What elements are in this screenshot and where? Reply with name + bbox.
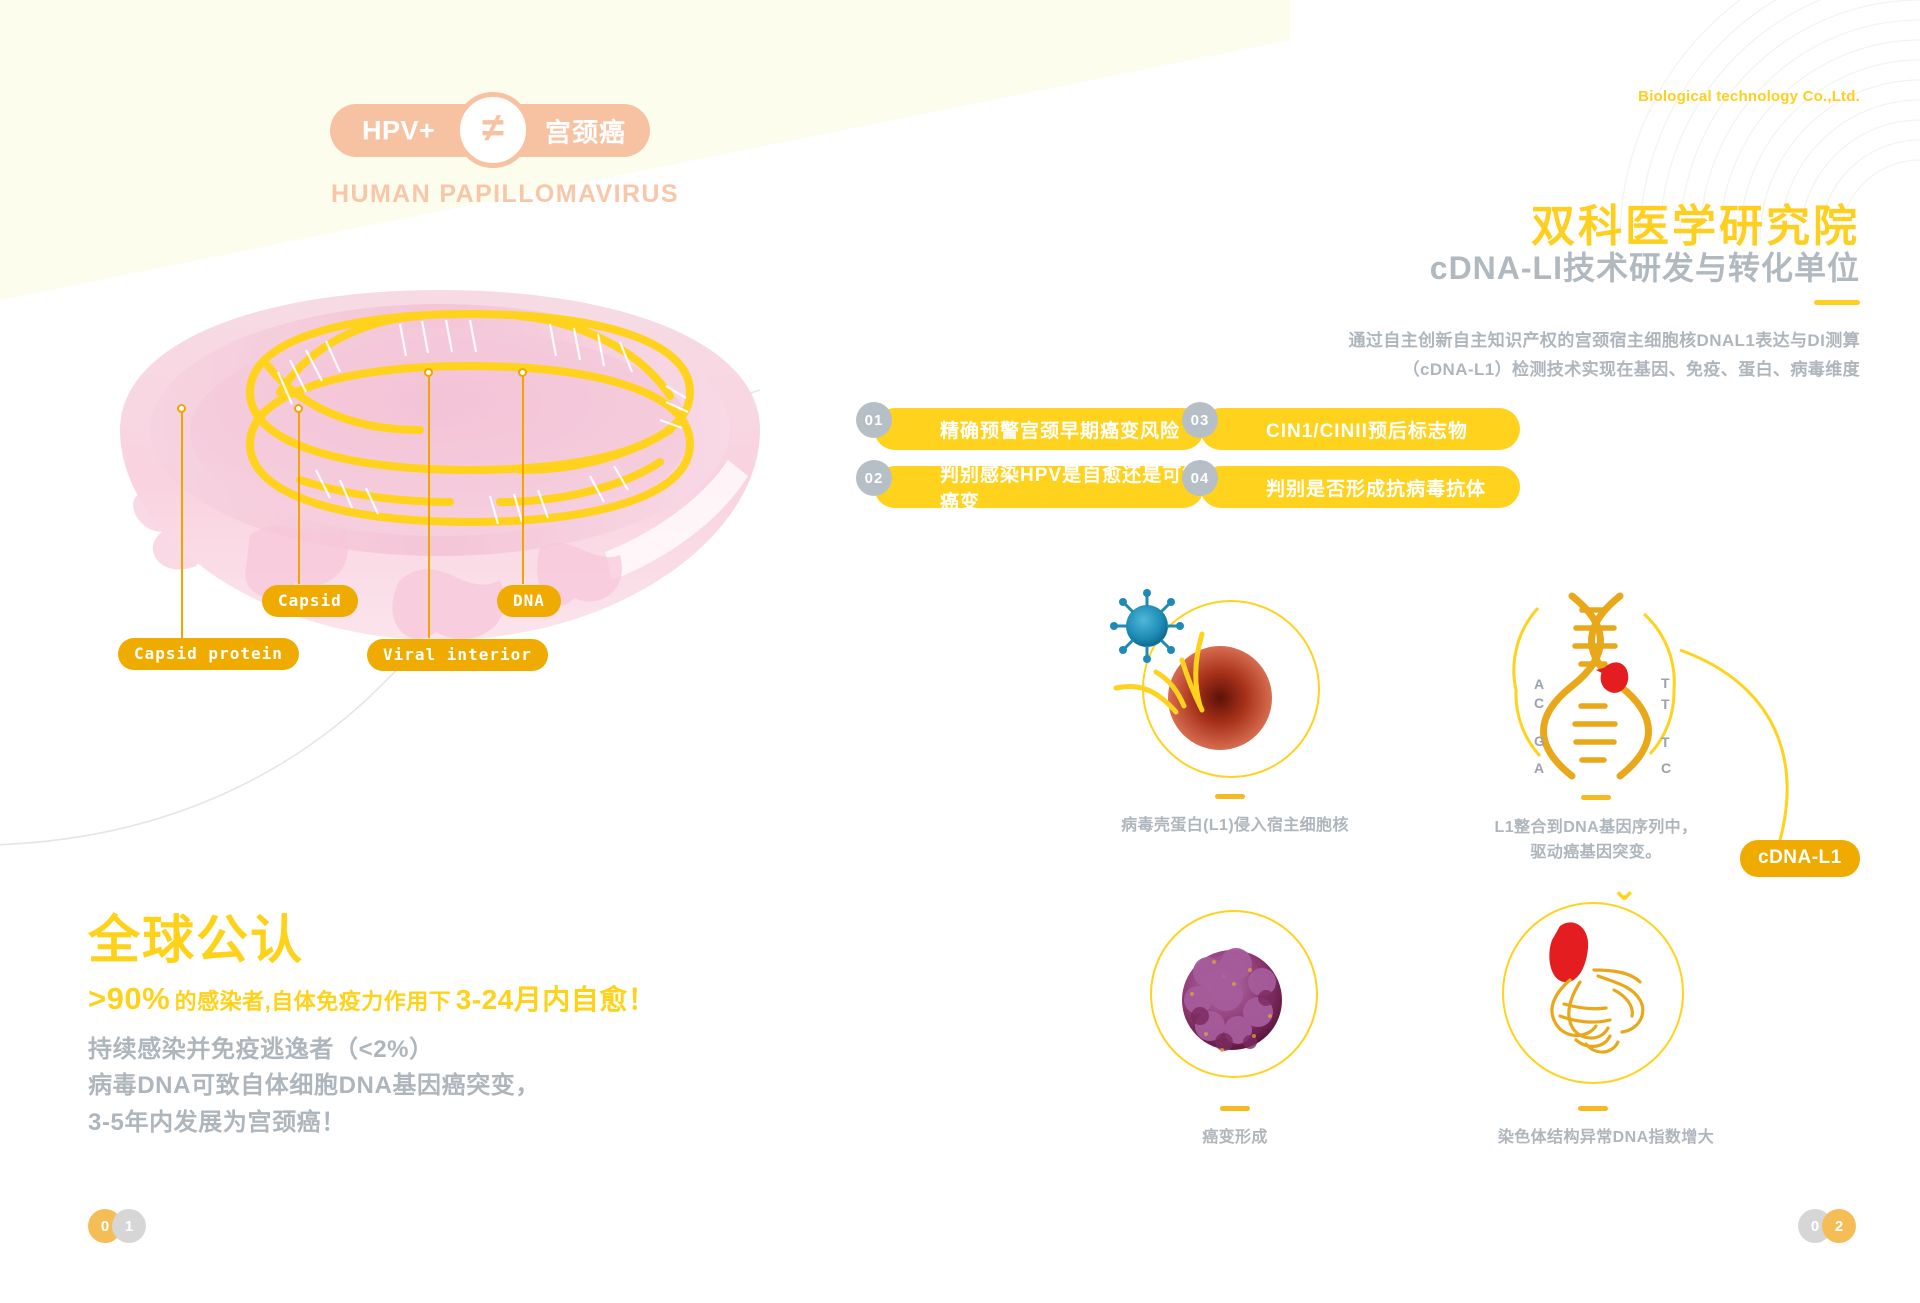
self-healing-stat-line: >90% 的感染者,自体免疫力作用下 3-24月内自愈！ (88, 978, 656, 1018)
flow-step4-caption-rule (1220, 1106, 1250, 1111)
feature-label-01: 精确预警宫颈早期癌变风险 (940, 416, 1180, 443)
dna-base-left-4: A (1534, 760, 1544, 776)
feature-pill-04[interactable]: 04 判别是否形成抗病毒抗体 (1200, 466, 1520, 508)
flow-step2-caption-rule (1581, 795, 1611, 800)
persistent-infection-paragraph: 持续感染并免疫逃逸者（<2%） 病毒DNA可致自体细胞DNA基因癌突变， 3-5… (88, 1032, 540, 1141)
page-number-left: 0 1 (88, 1209, 162, 1243)
institute-subtitle: cDNA-LI技术研发与转化单位 (1430, 243, 1860, 289)
dna-base-left-2: C (1534, 695, 1544, 711)
flow-step1-caption-rule (1215, 794, 1245, 799)
flow-step4-caption: 癌变形成 (1155, 1126, 1315, 1151)
institute-description: 通过自主创新自主知识产权的宫颈宿主细胞核DNAL1表达与DI测算（cDNA-L1… (1285, 326, 1860, 384)
callout-pin-dna (518, 368, 527, 377)
callout-line-dna (522, 376, 524, 584)
page-number-left-digit2: 1 (112, 1209, 146, 1243)
flow-chevron-down-icon: ⌄ (1610, 872, 1639, 906)
flow-step3-caption: 染色体结构异常DNA指数增大 (1446, 1126, 1766, 1151)
feature-label-04: 判别是否形成抗病毒抗体 (1266, 474, 1486, 501)
callout-pin-capsid-protein (177, 404, 186, 413)
feature-label-02: 判别感染HPV是自愈还是可能癌变 (940, 460, 1204, 514)
flow-step1-caption: 病毒壳蛋白(L1)侵入宿主细胞核 (1090, 814, 1380, 839)
hpv-badge-left-label: HPV+ (362, 115, 435, 146)
page-number-right-digit2: 2 (1822, 1209, 1856, 1243)
right-panel: Biological technology Co.,Ltd. 双科医学研究院 c… (1040, 0, 1920, 1303)
callout-line-capsid-protein (181, 412, 183, 650)
callout-tag-dna: DNA (497, 585, 561, 617)
feature-number-04: 04 (1182, 460, 1218, 496)
stat-middle-text: 的感染者,自体免疫力作用下 (175, 989, 452, 1014)
feature-number-01: 01 (856, 402, 892, 438)
callout-line-viral-interior (428, 376, 430, 638)
flow-step1-illustration (1098, 586, 1344, 796)
stat-tail-text: 3-24月内自愈！ (456, 984, 657, 1015)
feature-pill-02[interactable]: 02 判别感染HPV是自愈还是可能癌变 (874, 466, 1204, 508)
paragraph-line-1: 持续感染并免疫逃逸者（<2%） (88, 1032, 540, 1068)
stat-percentage: >90% (88, 981, 170, 1016)
page-number-right: 0 2 (1798, 1209, 1872, 1243)
flow-step3-illustration (1518, 912, 1674, 1074)
paragraph-line-2: 病毒DNA可致自体细胞DNA基因癌突变， (88, 1068, 540, 1104)
feature-pill-03[interactable]: 03 CIN1/CINII预后标志物 (1200, 408, 1520, 450)
flow-step3-caption-rule (1578, 1106, 1608, 1111)
feature-pill-01[interactable]: 01 精确预警宫颈早期癌变风险 (874, 408, 1204, 450)
dna-base-left-3: G (1534, 733, 1545, 749)
company-name: Biological technology Co.,Ltd. (1638, 88, 1860, 105)
flow-step4-illustration (1162, 924, 1312, 1074)
feature-number-02: 02 (856, 460, 892, 496)
paragraph-line-3: 3-5年内发展为宫颈癌！ (88, 1105, 540, 1141)
title-divider (1814, 300, 1860, 305)
hpv-badge-right-label: 宫颈癌 (545, 112, 626, 149)
not-equal-icon: ≠ (455, 92, 531, 168)
global-consensus-headline: 全球公认 (88, 898, 304, 973)
dna-base-left-1: A (1534, 676, 1544, 692)
cdna-l1-tag: cDNA-L1 (1740, 840, 1860, 877)
left-panel: HPV+ 宫颈癌 ≠ HUMAN PAPILLOMAVIRUS (0, 0, 1040, 1303)
callout-tag-viral-interior: Viral interior (367, 639, 548, 671)
callout-tag-capsid: Capsid (262, 585, 358, 617)
callout-tag-capsid-protein: Capsid protein (118, 638, 299, 670)
hpv-subtitle: HUMAN PAPILLOMAVIRUS (305, 180, 705, 209)
callout-pin-capsid (294, 404, 303, 413)
not-equal-glyph: ≠ (482, 108, 504, 148)
feature-number-03: 03 (1182, 402, 1218, 438)
callout-line-capsid (298, 412, 300, 584)
callout-pin-viral-interior (424, 368, 433, 377)
feature-label-03: CIN1/CINII预后标志物 (1266, 416, 1468, 443)
